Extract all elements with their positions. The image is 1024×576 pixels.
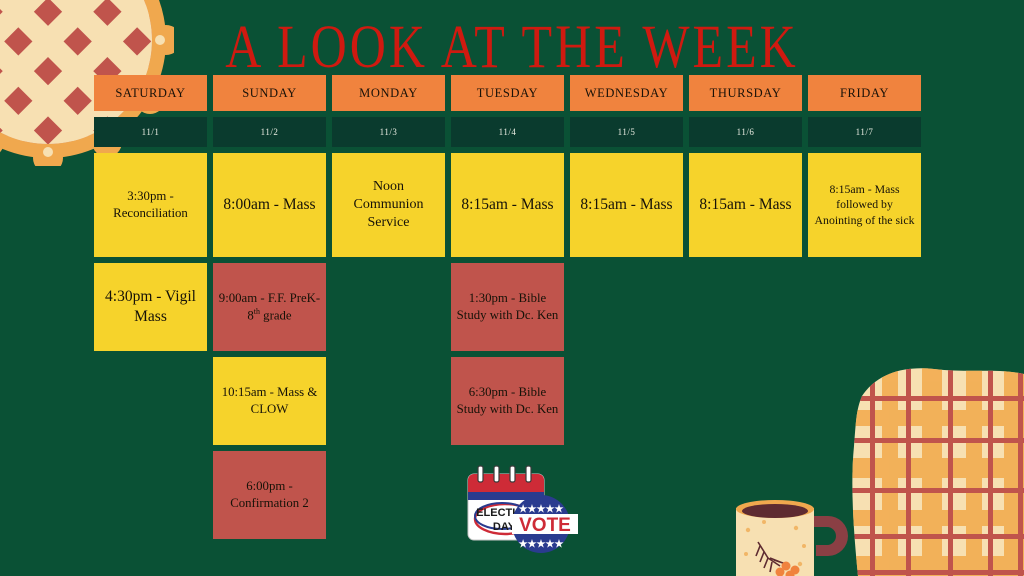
day-header-tuesday[interactable]: TUESDAY	[451, 75, 564, 111]
event-card[interactable]: 6:30pm - Bible Study with Dc. Ken	[451, 357, 564, 445]
day-header-saturday[interactable]: SATURDAY	[94, 75, 207, 111]
event-card[interactable]: 4:30pm - Vigil Mass	[94, 263, 207, 351]
event-card[interactable]: 8:15am - Mass followed by Anointing of t…	[808, 153, 921, 257]
event-text: Noon Communion Service	[337, 178, 440, 233]
event-card[interactable]: 8:15am - Mass	[451, 153, 564, 257]
event-text: 8:00am - Mass	[223, 195, 315, 215]
event-text: 8:15am - Mass	[580, 195, 672, 215]
day-header-sunday[interactable]: SUNDAY	[213, 75, 326, 111]
day-header-monday[interactable]: MONDAY	[332, 75, 445, 111]
day-column-tuesday: TUESDAY11/48:15am - Mass1:30pm - Bible S…	[451, 75, 564, 539]
event-card[interactable]: 1:30pm - Bible Study with Dc. Ken	[451, 263, 564, 351]
day-date-sunday: 11/2	[213, 117, 326, 147]
event-text: 4:30pm - Vigil Mass	[99, 287, 202, 327]
day-column-thursday: THURSDAY11/68:15am - Mass	[689, 75, 802, 539]
day-header-wednesday[interactable]: WEDNESDAY	[570, 75, 683, 111]
day-header-thursday[interactable]: THURSDAY	[689, 75, 802, 111]
event-text: 6:30pm - Bible Study with Dc. Ken	[456, 384, 559, 417]
event-card[interactable]: Noon Communion Service	[332, 153, 445, 257]
svg-text:★★★★★: ★★★★★	[519, 539, 564, 550]
page-title: A LOOK AT THE WEEK	[0, 12, 1024, 80]
day-column-sunday: SUNDAY11/28:00am - Mass9:00am - F.F. Pre…	[213, 75, 326, 539]
event-text: 10:15am - Mass & CLOW	[218, 384, 321, 417]
day-date-saturday: 11/1	[94, 117, 207, 147]
event-card[interactable]: 9:00am - F.F. PreK- 8th grade	[213, 263, 326, 351]
event-card[interactable]: 8:15am - Mass	[570, 153, 683, 257]
event-text: 3:30pm - Reconciliation	[99, 188, 202, 221]
event-card[interactable]: 3:30pm - Reconciliation	[94, 153, 207, 257]
calendar-grid: SATURDAY11/13:30pm - Reconciliation4:30p…	[94, 75, 932, 539]
day-date-wednesday: 11/5	[570, 117, 683, 147]
event-card[interactable]: 8:00am - Mass	[213, 153, 326, 257]
event-text: 8:15am - Mass followed by Anointing of t…	[813, 182, 916, 228]
day-header-friday[interactable]: FRIDAY	[808, 75, 921, 111]
event-text: 1:30pm - Bible Study with Dc. Ken	[456, 290, 559, 323]
day-date-friday: 11/7	[808, 117, 921, 147]
day-date-monday: 11/3	[332, 117, 445, 147]
event-text: 8:15am - Mass	[699, 195, 791, 215]
day-date-thursday: 11/6	[689, 117, 802, 147]
event-card[interactable]: 8:15am - Mass	[689, 153, 802, 257]
day-column-friday: FRIDAY11/78:15am - Mass followed by Anoi…	[808, 75, 921, 539]
day-column-wednesday: WEDNESDAY11/58:15am - Mass	[570, 75, 683, 539]
event-text: 9:00am - F.F. PreK- 8th grade	[218, 290, 321, 324]
day-column-saturday: SATURDAY11/13:30pm - Reconciliation4:30p…	[94, 75, 207, 539]
event-card[interactable]: 6:00pm - Confirmation 2	[213, 451, 326, 539]
day-column-monday: MONDAY11/3Noon Communion Service	[332, 75, 445, 539]
day-date-tuesday: 11/4	[451, 117, 564, 147]
event-card[interactable]: 10:15am - Mass & CLOW	[213, 357, 326, 445]
event-text: 8:15am - Mass	[461, 195, 553, 215]
event-text: 6:00pm - Confirmation 2	[218, 478, 321, 511]
